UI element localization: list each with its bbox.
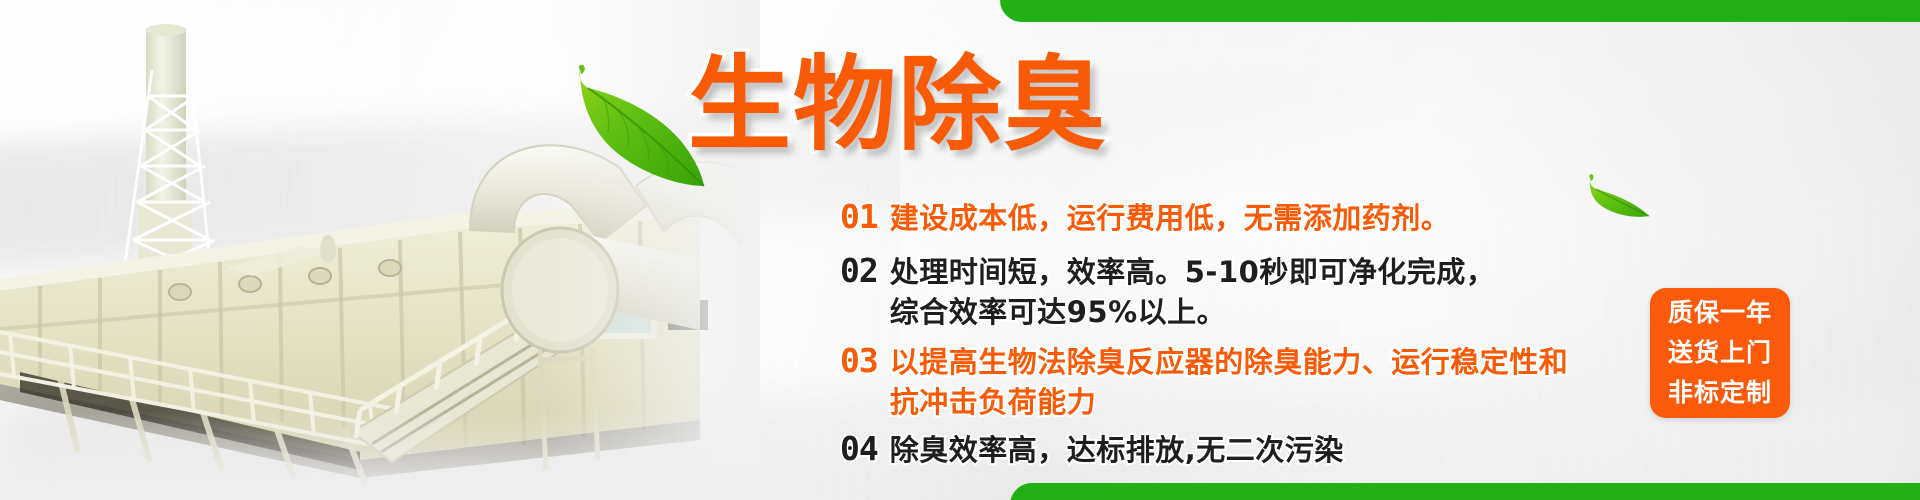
page-title: 生物除臭 [688, 54, 1108, 157]
feature-item-01: 01 建设成本低，运行费用低，无需添加药剂。 [840, 198, 1630, 238]
feature-line: 抗冲击负荷能力 [890, 382, 1569, 422]
feature-text: 除臭效率高，达标排放,无二次污染 [890, 430, 1344, 470]
feature-item-02: 02 处理时间短，效率高。5-10秒即可净化完成， 综合效率可达95%以上。 [840, 252, 1630, 332]
feature-line: 除臭效率高，达标排放,无二次污染 [890, 430, 1344, 470]
feature-number: 04 [840, 430, 878, 468]
badge-line-warranty: 质保一年 [1668, 293, 1772, 333]
feature-line: 以提高生物法除臭反应器的除臭能力、运行稳定性和 [890, 342, 1569, 382]
guarantee-badge: 质保一年 送货上门 非标定制 [1650, 288, 1790, 418]
feature-number: 02 [840, 252, 878, 290]
green-accent-bar-bottom [1010, 483, 1920, 500]
green-accent-bar-top [1000, 0, 1920, 22]
promo-banner: 生物除臭 01 建设成本低，运行费用低，无需添加药剂。 02 处理时间短，效率高… [0, 0, 1920, 500]
feature-number: 01 [840, 198, 878, 236]
feature-line: 综合效率可达95%以上。 [890, 292, 1496, 332]
badge-line-custom: 非标定制 [1668, 373, 1772, 413]
feature-item-03: 03 以提高生物法除臭反应器的除臭能力、运行稳定性和 抗冲击负荷能力 [840, 342, 1630, 422]
feature-item-04: 04 除臭效率高，达标排放,无二次污染 [840, 430, 1630, 470]
feature-line: 建设成本低，运行费用低，无需添加药剂。 [890, 198, 1451, 238]
feature-text: 处理时间短，效率高。5-10秒即可净化完成， 综合效率可达95%以上。 [890, 252, 1496, 332]
feature-number: 03 [840, 342, 878, 380]
feature-text: 建设成本低，运行费用低，无需添加药剂。 [890, 198, 1451, 238]
feature-list: 01 建设成本低，运行费用低，无需添加药剂。 02 处理时间短，效率高。5-10… [840, 198, 1630, 484]
badge-line-delivery: 送货上门 [1668, 333, 1772, 373]
feature-text: 以提高生物法除臭反应器的除臭能力、运行稳定性和 抗冲击负荷能力 [890, 342, 1569, 422]
feature-line: 处理时间短，效率高。5-10秒即可净化完成， [890, 252, 1496, 292]
